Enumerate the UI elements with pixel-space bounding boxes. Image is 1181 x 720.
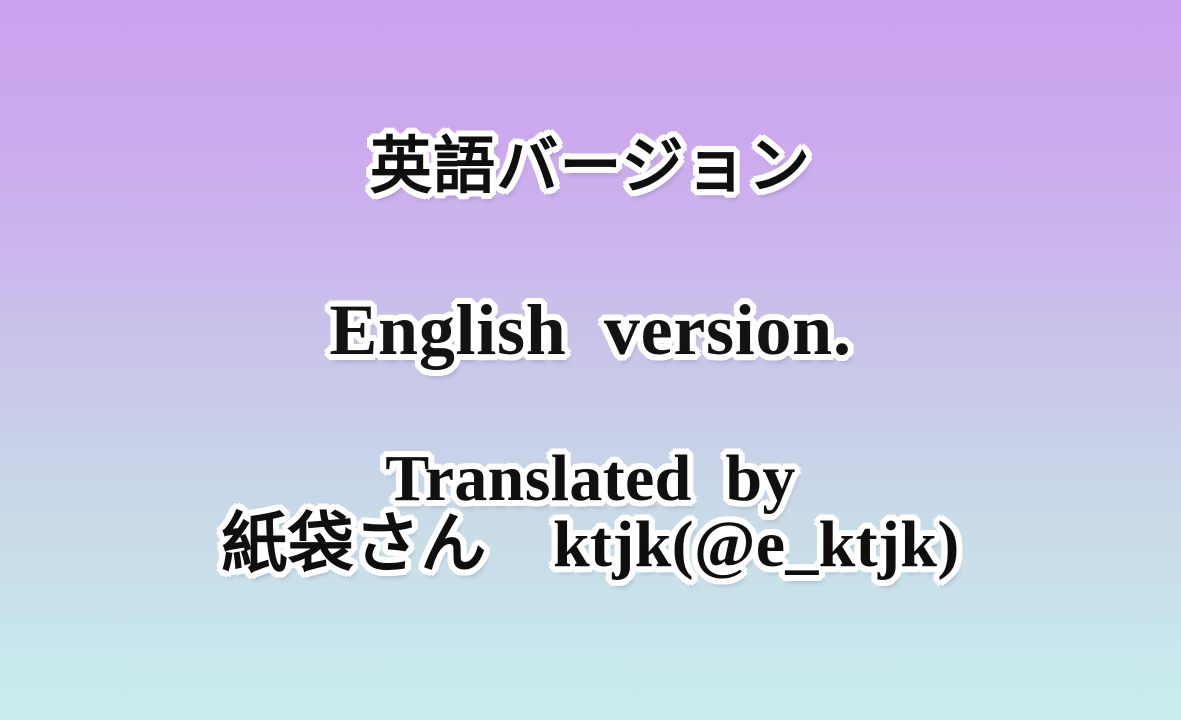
translator-credit-handle: 紙袋さん ktjk(@e_ktjk) bbox=[0, 512, 1181, 578]
translation-credit-card: 英語バージョン English version. Translated by 紙… bbox=[0, 0, 1181, 720]
japanese-version-heading: 英語バージョン bbox=[0, 136, 1181, 198]
translated-by-label: Translated by bbox=[0, 446, 1181, 512]
english-version-label: English version. bbox=[0, 294, 1181, 366]
